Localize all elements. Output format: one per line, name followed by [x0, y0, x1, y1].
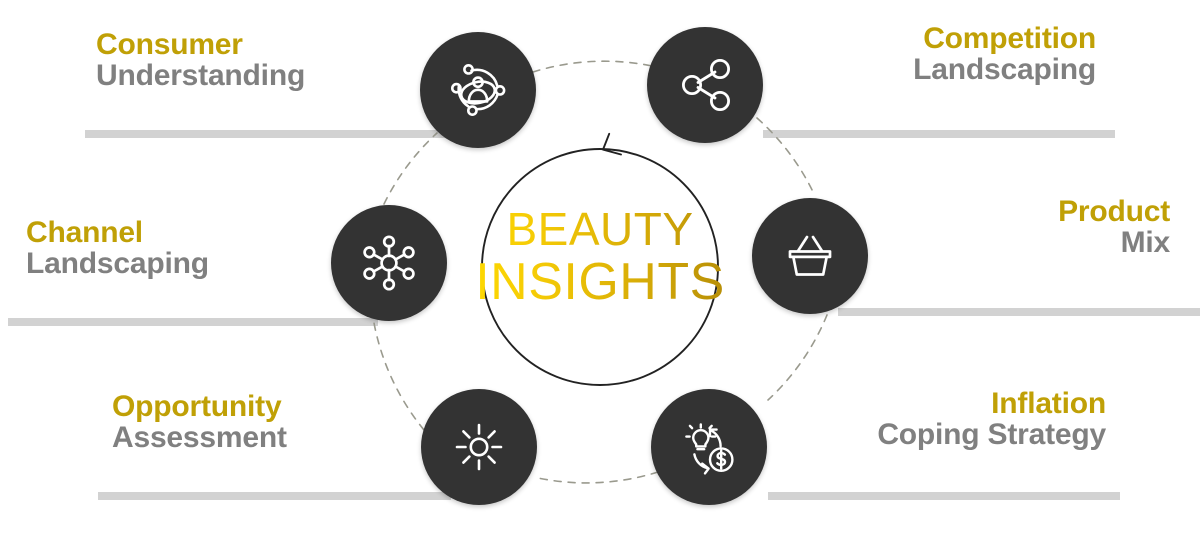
people-network-icon	[446, 58, 510, 122]
label-line2: Assessment	[112, 423, 287, 454]
label-line1: Inflation	[877, 389, 1106, 420]
beauty-insights-diagram: BEAUTY INSIGHTS Consumer Understanding C…	[0, 0, 1200, 534]
label-opportunity-assessment: Opportunity Assessment	[112, 392, 287, 453]
rule-middle-left	[8, 318, 378, 326]
label-inflation-coping-strategy: Inflation Coping Strategy	[877, 389, 1106, 450]
rule-top-left	[85, 130, 447, 138]
rule-bottom-left	[98, 492, 451, 500]
label-line1: Competition	[913, 24, 1096, 55]
label-line1: Product	[1058, 197, 1170, 228]
label-product-mix: Product Mix	[1058, 197, 1170, 258]
center-title: BEAUTY INSIGHTS	[455, 202, 745, 312]
node-inflation-coping-strategy[interactable]	[651, 389, 767, 505]
label-line2: Mix	[1058, 228, 1170, 259]
node-consumer-understanding[interactable]	[420, 32, 536, 148]
node-product-mix[interactable]	[752, 198, 868, 314]
rule-middle-right	[838, 308, 1200, 316]
node-competition-landscaping[interactable]	[647, 27, 763, 143]
center-title-line1: BEAUTY	[455, 202, 745, 256]
hub-spoke-icon	[358, 232, 420, 294]
shopping-basket-icon	[779, 225, 841, 287]
label-line1: Consumer	[96, 30, 305, 61]
label-line2: Landscaping	[26, 249, 209, 280]
label-competition-landscaping: Competition Landscaping	[913, 24, 1096, 85]
label-consumer-understanding: Consumer Understanding	[96, 30, 305, 91]
rule-top-right	[763, 130, 1115, 138]
label-line2: Understanding	[96, 61, 305, 92]
label-line1: Opportunity	[112, 392, 287, 423]
node-channel-landscaping[interactable]	[331, 205, 447, 321]
lightbulb-money-cycle-icon	[678, 416, 740, 478]
rule-bottom-right	[768, 492, 1120, 500]
counter-clockwise-arrowhead	[603, 134, 621, 155]
center-title-line2: INSIGHTS	[455, 252, 745, 312]
sun-burst-icon	[449, 417, 509, 477]
label-line1: Channel	[26, 218, 209, 249]
label-line2: Coping Strategy	[877, 420, 1106, 451]
label-line2: Landscaping	[913, 55, 1096, 86]
node-opportunity-assessment[interactable]	[421, 389, 537, 505]
share-nodes-icon	[675, 55, 735, 115]
label-channel-landscaping: Channel Landscaping	[26, 218, 209, 279]
